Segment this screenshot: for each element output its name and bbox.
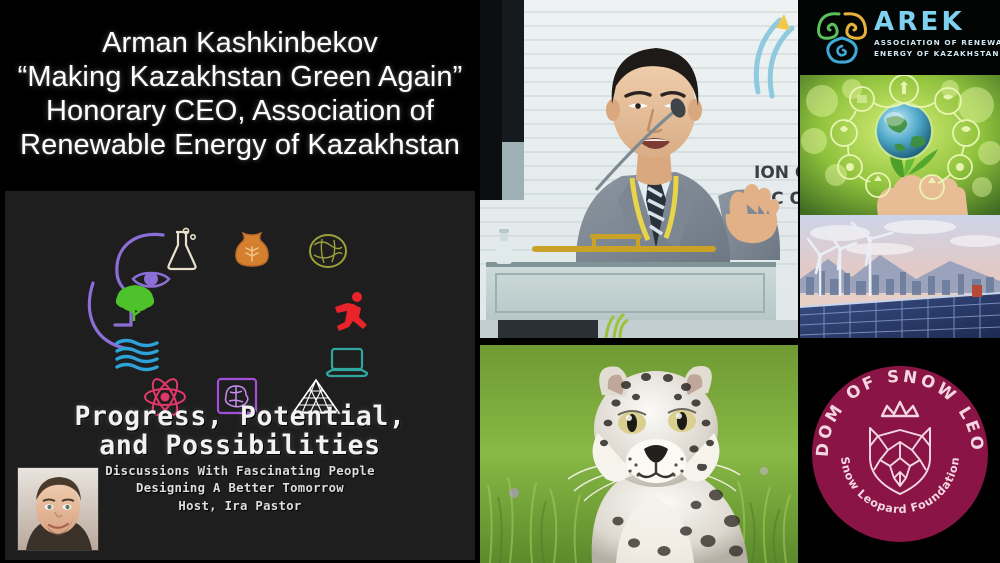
laptop-icon bbox=[325, 347, 369, 379]
video-thumbnail: Arman Kashkinbekov “Making Kazakhstan Gr… bbox=[0, 0, 1000, 563]
title-line-2: “Making Kazakhstan Green Again” bbox=[18, 61, 463, 95]
eco-globe-photo bbox=[800, 75, 1000, 215]
podcast-title: Progress, Potential, and Possibilities bbox=[5, 403, 475, 460]
arek-emblem-icon bbox=[812, 8, 872, 66]
host-avatar bbox=[18, 468, 98, 550]
arek-wordmark: AREK bbox=[874, 9, 1000, 35]
snow-leopard-foundation-seal: KINGDOM OF SNOW LEOPARD Snow Leopard Fou… bbox=[800, 345, 1000, 563]
podcast-title-line-1: Progress, Potential, bbox=[5, 403, 475, 432]
running-person-icon bbox=[331, 291, 371, 333]
podcast-title-line-2: and Possibilities bbox=[5, 432, 475, 461]
arek-wordmark-group: AREK ASSOCIATION OF RENEWABLE ENERGY OF … bbox=[874, 9, 1000, 60]
title-line-1: Arman Kashkinbekov bbox=[102, 27, 378, 61]
title-line-4: Renewable Energy of Kazakhstan bbox=[20, 129, 460, 163]
title-line-3: Honorary CEO, Association of bbox=[46, 95, 434, 129]
arek-logo: AREK ASSOCIATION OF RENEWABLE ENERGY OF … bbox=[800, 0, 1000, 75]
title-card: Arman Kashkinbekov “Making Kazakhstan Gr… bbox=[0, 0, 480, 190]
arek-subtitle-line-1: ASSOCIATION OF RENEWABLE bbox=[874, 38, 1000, 49]
globe-icon bbox=[308, 233, 348, 269]
svg-text:ION O: ION O bbox=[754, 163, 798, 183]
podcast-branding-panel: Progress, Potential, and Possibilities D… bbox=[5, 191, 475, 560]
topic-icon-cluster bbox=[113, 229, 375, 409]
left-column: Arman Kashkinbekov “Making Kazakhstan Gr… bbox=[0, 0, 480, 563]
wind-solar-photo bbox=[800, 215, 1000, 338]
snow-leopard-photo bbox=[480, 345, 798, 563]
flask-icon bbox=[165, 229, 199, 271]
grain-sack-icon bbox=[233, 231, 271, 269]
arek-subtitle-line-2: ENERGY OF KAZAKHSTAN bbox=[874, 49, 1000, 60]
tree-icon bbox=[113, 283, 157, 323]
speaker-photo: ION O LIC O bbox=[480, 0, 798, 338]
water-waves-icon bbox=[115, 339, 159, 373]
